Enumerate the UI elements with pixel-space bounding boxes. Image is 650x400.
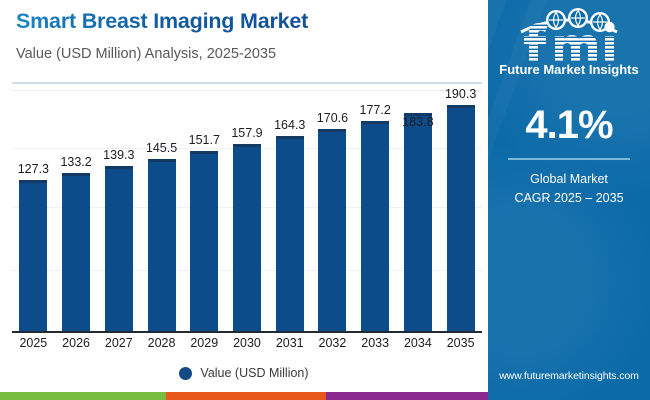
x-tick-2029: 2029 — [183, 336, 226, 350]
fmi-logo-icon: Future Market Insights — [499, 6, 639, 78]
bar-value-label: 151.7 — [189, 133, 220, 147]
bar-rect — [148, 159, 176, 331]
bar-cap — [148, 159, 176, 162]
x-tick-2026: 2026 — [55, 336, 98, 350]
x-tick-2034: 2034 — [397, 336, 440, 350]
bar-cap — [62, 173, 90, 176]
plot-area: 127.3133.2139.3145.5151.7157.9164.3170.6… — [12, 88, 482, 333]
chart-panel: Smart Breast Imaging Market Value (USD M… — [0, 0, 488, 400]
bar-value-label: 190.3 — [445, 87, 476, 101]
bar-2031: 164.3 — [268, 88, 311, 331]
stripe-segment-purple — [326, 392, 488, 400]
bar-value-label: 133.2 — [60, 155, 91, 169]
bar-value-label: 170.6 — [317, 111, 348, 125]
bar-rect — [404, 113, 432, 331]
x-tick-2025: 2025 — [12, 336, 55, 350]
bar-2025: 127.3 — [12, 88, 55, 331]
x-tick-2032: 2032 — [311, 336, 354, 350]
cagr-value: 4.1% — [488, 104, 650, 146]
bar-value-label: 164.3 — [274, 118, 305, 132]
bar-2034: 183.8 — [397, 88, 440, 331]
x-tick-2027: 2027 — [97, 336, 140, 350]
legend-dot-icon — [179, 367, 192, 380]
bar-rect — [62, 173, 90, 331]
bar-2032: 170.6 — [311, 88, 354, 331]
page-subtitle: Value (USD Million) Analysis, 2025-2035 — [16, 46, 276, 62]
bar-rect — [276, 136, 304, 331]
bar-2030: 157.9 — [226, 88, 269, 331]
bar-rect — [105, 166, 133, 331]
bar-cap — [318, 129, 346, 132]
page-title: Smart Breast Imaging Market — [16, 9, 308, 34]
x-tick-2033: 2033 — [354, 336, 397, 350]
bar-value-label: 177.2 — [360, 103, 391, 117]
cagr-block: 4.1% Global Market CAGR 2025 – 2035 — [488, 104, 650, 209]
brand-sidebar: Future Market Insights 4.1% Global Marke… — [488, 0, 650, 400]
bar-rect — [233, 144, 261, 331]
bar-2029: 151.7 — [183, 88, 226, 331]
bar-cap — [361, 121, 389, 124]
bar-series: 127.3133.2139.3145.5151.7157.9164.3170.6… — [12, 88, 482, 333]
x-tick-2035: 2035 — [439, 336, 482, 350]
x-axis-labels: 2025202620272028202920302031203220332034… — [12, 336, 482, 356]
bar-value-label: 183.8 — [402, 115, 433, 129]
x-tick-2030: 2030 — [226, 336, 269, 350]
bar-value-label: 145.5 — [146, 141, 177, 155]
bar-2033: 177.2 — [354, 88, 397, 331]
bar-value-label: 157.9 — [231, 126, 262, 140]
bar-cap — [233, 144, 261, 147]
bar-cap — [190, 151, 218, 154]
fmi-tagline: Future Market Insights — [499, 62, 638, 77]
x-tick-2031: 2031 — [268, 336, 311, 350]
stripe-segment-orange — [166, 392, 326, 400]
cagr-caption-line2: CAGR 2025 – 2035 — [488, 189, 650, 208]
bar-rect — [447, 105, 475, 331]
fmi-logo: Future Market Insights — [488, 6, 650, 78]
bar-rect — [190, 151, 218, 331]
bottom-color-stripe — [0, 392, 488, 400]
cagr-divider — [508, 158, 630, 160]
bar-2028: 145.5 — [140, 88, 183, 331]
chart-infographic: Smart Breast Imaging Market Value (USD M… — [0, 0, 650, 400]
bar-cap — [447, 105, 475, 108]
bar-rect — [361, 121, 389, 331]
bar-rect — [318, 129, 346, 331]
bar-2035: 190.3 — [439, 88, 482, 331]
website-url: www.futuremarketinsights.com — [488, 370, 650, 382]
bar-rect — [19, 180, 47, 331]
cagr-caption-line1: Global Market — [488, 170, 650, 189]
bar-2026: 133.2 — [55, 88, 98, 331]
header-divider — [12, 82, 482, 84]
bar-value-label: 139.3 — [103, 148, 134, 162]
bar-2027: 139.3 — [97, 88, 140, 331]
legend-label: Value (USD Million) — [200, 366, 308, 380]
stripe-segment-green — [0, 392, 166, 400]
bar-value-label: 127.3 — [18, 162, 49, 176]
bar-cap — [276, 136, 304, 139]
chart-legend: Value (USD Million) — [0, 366, 488, 380]
bar-cap — [19, 180, 47, 183]
x-tick-2028: 2028 — [140, 336, 183, 350]
bar-cap — [105, 166, 133, 169]
